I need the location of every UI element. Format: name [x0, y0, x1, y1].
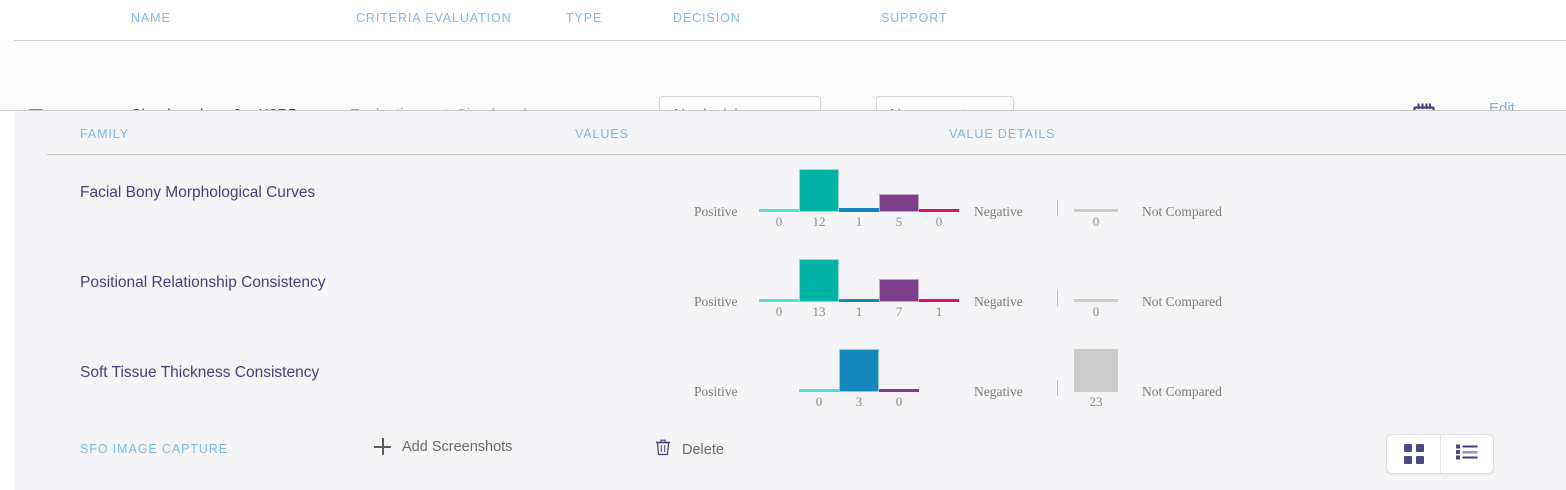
bar-tick-label: 3 — [839, 394, 879, 410]
family-label: Positional Relationship Consistency — [80, 274, 326, 292]
evaluation-row: Sierakauskas_6a_K3P5 Evaluation_set_Sier… — [0, 41, 1566, 110]
bar-tick-label: 1 — [919, 304, 959, 320]
values-chart: Positive Negative Not Compared 012150 0 — [674, 162, 1254, 234]
add-screenshots-label: Add Screenshots — [402, 439, 512, 455]
values-chart: Positive Negative Not Compared 013171 0 — [674, 252, 1254, 324]
bar-tick-label: 0 — [759, 304, 799, 320]
positive-bar-group: 013171 — [759, 256, 959, 302]
not-compared-bar — [1074, 349, 1118, 392]
bar — [799, 169, 839, 212]
chart-caption-positive: Positive — [694, 384, 738, 400]
bar-tick-label: 12 — [799, 214, 839, 230]
bar-column: 5 — [879, 166, 919, 212]
bar-column: 0 — [879, 346, 919, 392]
view-mode-toggle — [1386, 434, 1494, 474]
column-header-name: NAME — [131, 11, 171, 25]
values-chart: Positive Negative Not Compared 030 23 — [674, 342, 1254, 414]
list-view-button[interactable] — [1440, 435, 1493, 473]
bar — [839, 208, 879, 212]
detail-column-values: VALUES — [575, 127, 629, 141]
bar-column: 0 — [759, 166, 799, 212]
column-header-support: SUPPORT — [881, 11, 948, 25]
bar-column: 0 — [919, 166, 959, 212]
bar — [919, 299, 959, 302]
chart-caption-negative: Negative — [974, 294, 1023, 310]
bar-column: 7 — [879, 256, 919, 302]
bar — [759, 299, 799, 302]
detail-column-value-details: VALUE DETAILS — [949, 127, 1055, 141]
bar-tick-label: 7 — [879, 304, 919, 320]
positive-bar-group: 012150 — [759, 166, 959, 212]
chart-caption-negative: Negative — [974, 204, 1023, 220]
not-compared-tick-label: 0 — [1074, 304, 1118, 320]
bar — [839, 299, 879, 302]
bar-column: 0 — [759, 256, 799, 302]
chart-caption-positive: Positive — [694, 294, 738, 310]
delete-button[interactable]: Delete — [655, 438, 724, 461]
family-row: Positional Relationship Consistency Posi… — [14, 244, 1566, 333]
not-compared-bar-group: 0 — [1074, 166, 1118, 212]
list-view-icon — [1456, 443, 1478, 466]
bar-tick-label: 0 — [879, 394, 919, 410]
evaluation-detail-page: NAME CRITERIA EVALUATION TYPE DECISION S… — [0, 0, 1566, 490]
bar-tick-label: 13 — [799, 304, 839, 320]
bar-column: 1 — [919, 256, 959, 302]
family-label: Soft Tissue Thickness Consistency — [80, 364, 319, 382]
plus-icon — [374, 438, 391, 455]
chart-divider — [1057, 380, 1058, 396]
delete-label: Delete — [682, 442, 724, 458]
chart-caption-negative: Negative — [974, 384, 1023, 400]
not-compared-bar-group: 0 — [1074, 256, 1118, 302]
family-row: Soft Tissue Thickness Consistency Positi… — [14, 334, 1566, 423]
add-screenshots-button[interactable]: Add Screenshots — [374, 438, 512, 455]
bar-column: 3 — [839, 346, 879, 392]
column-header-decision: DECISION — [673, 11, 741, 25]
not-compared-tick-label: 0 — [1074, 214, 1118, 230]
not-compared-bar — [1074, 299, 1118, 302]
bar — [799, 389, 839, 392]
bar-column: 12 — [799, 166, 839, 212]
bar-column: 1 — [839, 256, 879, 302]
image-capture-title: SFO IMAGE CAPTURE — [80, 442, 228, 456]
not-compared-bar — [1074, 209, 1118, 212]
column-header-type: TYPE — [566, 11, 602, 25]
chart-caption-not-compared: Not Compared — [1142, 204, 1222, 220]
bar — [759, 209, 799, 212]
not-compared-bar-group: 23 — [1074, 346, 1118, 392]
chart-caption-not-compared: Not Compared — [1142, 294, 1222, 310]
chart-divider — [1057, 290, 1058, 306]
table-column-header: NAME CRITERIA EVALUATION TYPE DECISION S… — [0, 0, 1566, 40]
chart-caption-not-compared: Not Compared — [1142, 384, 1222, 400]
image-capture-toolbar: SFO IMAGE CAPTURE Add Screenshots Delete — [14, 424, 1566, 490]
bar — [879, 279, 919, 302]
bar — [839, 349, 879, 392]
chart-divider — [1057, 200, 1058, 216]
bar-tick-label: 1 — [839, 214, 879, 230]
bar — [799, 259, 839, 302]
grid-view-icon — [1404, 444, 1424, 464]
bar-tick-label: 0 — [919, 214, 959, 230]
chart-caption-positive: Positive — [694, 204, 738, 220]
bar-column: 0 — [799, 346, 839, 392]
bar — [879, 194, 919, 212]
trash-icon — [655, 438, 671, 461]
bar-column: 1 — [839, 166, 879, 212]
bar-column: 13 — [799, 256, 839, 302]
positive-bar-group: 030 — [799, 346, 919, 392]
not-compared-tick-label: 23 — [1074, 394, 1118, 410]
family-row: Facial Bony Morphological Curves Positiv… — [14, 154, 1566, 243]
bar-tick-label: 1 — [839, 304, 879, 320]
bar — [879, 389, 919, 392]
evaluation-detail-panel: FAMILY VALUES VALUE DETAILS Facial Bony … — [14, 111, 1566, 490]
bar-tick-label: 0 — [759, 214, 799, 230]
bar-tick-label: 5 — [879, 214, 919, 230]
bar-tick-label: 0 — [799, 394, 839, 410]
column-header-criteria: CRITERIA EVALUATION — [356, 11, 512, 25]
family-label: Facial Bony Morphological Curves — [80, 184, 315, 202]
grid-view-button[interactable] — [1387, 435, 1440, 473]
detail-column-family: FAMILY — [80, 127, 129, 141]
bar — [919, 209, 959, 212]
